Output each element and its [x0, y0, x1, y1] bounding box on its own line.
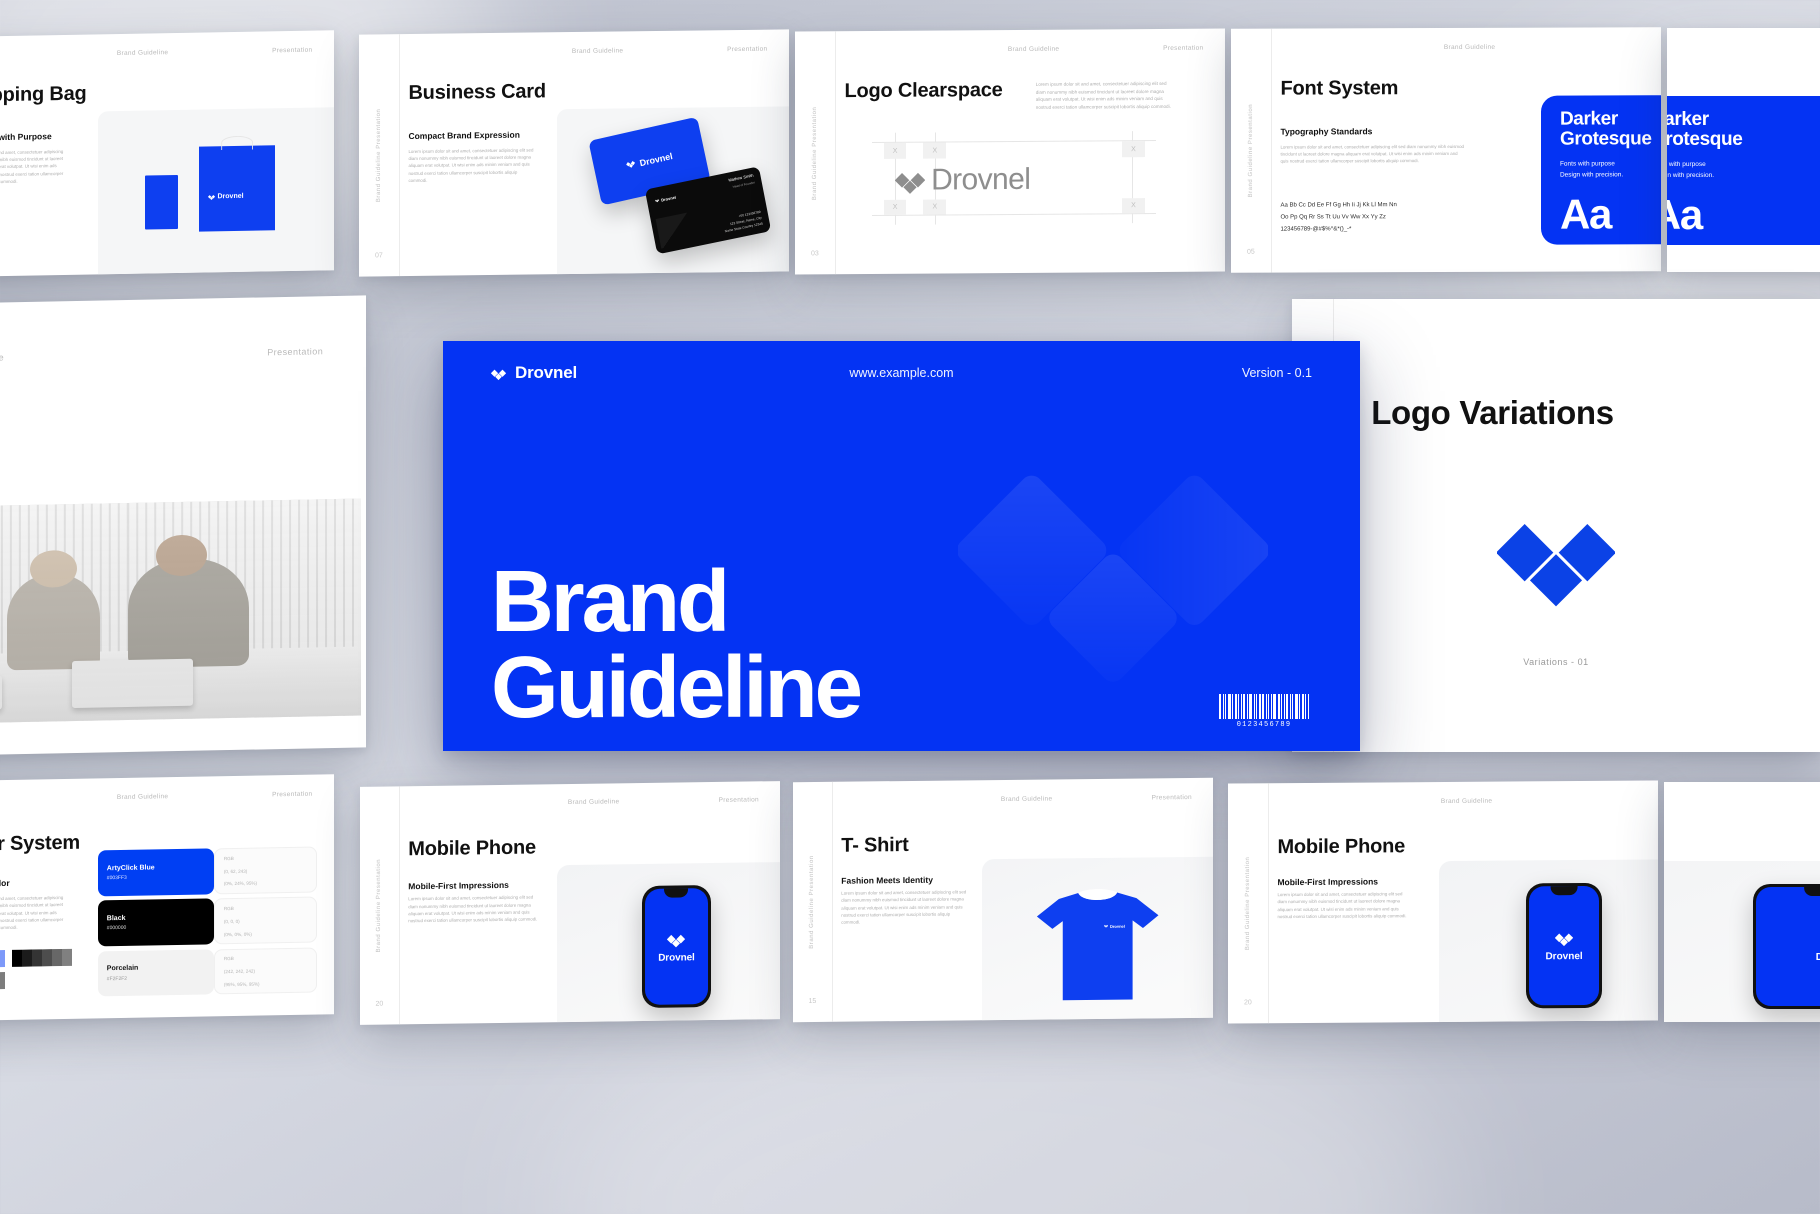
clearspace-marker: X [884, 199, 907, 215]
slide-body-copy: Lorem ipsum dolor sit and amet, consecte… [1280, 143, 1465, 165]
slide-team-photo[interactable]: Brand Guideline Presentation [0, 295, 366, 756]
swatch-row[interactable]: Black #000000 RGB (0, 0, 0) (0%, 0%, 0%) [98, 897, 317, 946]
slide-rail: Brand Guideline Presentation 15 [793, 782, 833, 1022]
swatch-hex: #003FF3 [107, 875, 127, 881]
phone-screen: Drovnel [1529, 886, 1600, 1006]
slide-header: Brand Guideline Presentation [836, 44, 1225, 54]
font-specimen-card: Darker Grotesque Fonts with purpose Desi… [1541, 95, 1661, 245]
rail-label: Brand Guideline Presentation [812, 106, 818, 200]
slide-header: Brand Guideline Presentation [833, 793, 1213, 804]
swatch-hex: #000000 [107, 925, 126, 931]
swatch-hsl-value: (0%, 24%, 95%) [224, 881, 257, 887]
phone-device: Drovnel [1753, 884, 1820, 1009]
photo-grayscale-overlay [0, 499, 361, 725]
header-left: Brand Guideline [568, 799, 620, 807]
card-back-brand: Drovnel [654, 194, 675, 203]
card-back-pattern [655, 212, 695, 248]
page-number: 07 [375, 252, 383, 259]
slide-logo-variations[interactable]: Brand Guideline Presentation 10 Logo Var… [1292, 299, 1820, 752]
swatch-hsl-value: (95%, 95%, 95%) [224, 982, 260, 988]
hero-brand: Drovnel [491, 363, 577, 383]
swatch-chip: ArtyClick Blue #003FF3 [98, 848, 214, 896]
specimen-subtitle: Fonts with purpose Design with precision… [1667, 160, 1714, 181]
slide-rail: Brand Guideline Presentation 20 [1228, 783, 1269, 1023]
phone-screen: Drovnel [1756, 887, 1820, 1006]
swatch-meta: RGB (0, 0, 0) (0%, 0%, 0%) [214, 897, 317, 944]
font-specimen-card-overflow: Darker Grotesque Fonts with purpose Desi… [1667, 96, 1820, 245]
swatch-meta: RGB (0, 62, 243) (0%, 24%, 95%) [214, 847, 317, 894]
hero-website-url[interactable]: www.example.com [849, 366, 953, 380]
specimen-aa: Aa [1560, 194, 1611, 236]
alphabet-line-1: Aa Bb Cc Dd Ee Ff Gg Hh Ii Jj Kk Ll Mm N… [1280, 199, 1396, 211]
phone-device: Drovnel [642, 885, 711, 1008]
tshirt-chest-logo: Drovnel [1104, 923, 1125, 928]
page-number: 05 [1247, 249, 1255, 256]
slide-mobile-phone-2[interactable]: Brand Guideline Presentation 20 Brand Gu… [1228, 780, 1658, 1023]
team-photo [0, 499, 361, 725]
slide-subtitle: Fashion Meets Identity [841, 874, 933, 885]
phone-brand-label: Drovnel [658, 952, 695, 964]
slide-rail: Brand Guideline Presentation 07 [359, 34, 400, 276]
hero-decoration [958, 405, 1268, 715]
swatch-chip: Porcelain #F2F2F2 [98, 949, 214, 997]
specimen-subtitle: Fonts with purpose Design with precision… [1560, 160, 1623, 181]
card-back-label: Drovnel [660, 194, 676, 202]
rail-label: Brand Guideline Presentation [1245, 857, 1251, 951]
slide-deck-mockup: Brand Guideline Presentation 06 Brand Gu… [0, 0, 1820, 1214]
swatch-name: ArtyClick Blue [107, 864, 155, 872]
bag-brand: Drovnel [208, 193, 244, 201]
slide-header: Brand Guideline Presentation [400, 45, 789, 57]
logo-mark-icon [895, 165, 925, 195]
slide-rail: Brand Guideline Presentation 05 [1231, 29, 1272, 273]
slide-font-system[interactable]: Brand Guideline Presentation 05 Brand Gu… [1231, 27, 1661, 273]
variation-caption: Variations - 01 [1523, 657, 1588, 667]
slide-hero-brand-guideline[interactable]: Drovnel www.example.com Version - 0.1 Br… [443, 341, 1360, 751]
header-left: Brand Guideline [117, 793, 169, 801]
slide-font-system-overflow[interactable]: Darker Grotesque Fonts with purpose Desi… [1667, 28, 1820, 272]
slide-mobile-phone-1[interactable]: Brand Guideline Presentation 20 Brand Gu… [360, 781, 780, 1025]
specimen-title: Darker Grotesque [1667, 110, 1742, 151]
slide-business-card[interactable]: Brand Guideline Presentation 07 Brand Gu… [359, 29, 789, 276]
swatch-rgb-label: RGB [224, 906, 234, 911]
color-ramp-black [12, 949, 72, 967]
header-left: Brand Guideline [1441, 797, 1493, 804]
slide-color-system[interactable]: Brand Guideline Presentation 04 Brand Gu… [0, 774, 334, 1022]
clearspace-marker: X [884, 143, 907, 159]
logo-mark-icon [1555, 929, 1573, 947]
font-alphabet: Aa Bb Cc Dd Ee Ff Gg Hh Ii Jj Kk Ll Mm N… [1280, 199, 1396, 235]
swatch-name: Black [107, 915, 126, 922]
clearspace-marker: X [1122, 198, 1145, 214]
hero-title: Brand Guideline [491, 559, 860, 731]
mockup-panel: Drovnel [1439, 859, 1658, 1022]
slide-rail: Brand Guideline Presentation 03 [795, 31, 836, 274]
tshirt-graphic: Drovnel [1033, 885, 1162, 1002]
hero-top-bar: Drovnel www.example.com Version - 0.1 [491, 363, 1312, 383]
slide-header: Brand Guideline Presentation [400, 797, 780, 809]
hero-version-label: Version - 0.1 [1242, 366, 1312, 380]
specimen-aa: Aa [1667, 194, 1702, 236]
swatch-rgb-label: RGB [224, 956, 234, 961]
slide-subtitle: Compact Brand Expression [408, 129, 519, 140]
alphabet-line-3: 123456789-@#$%^&*()_-* [1280, 223, 1396, 235]
slide-subtitle: Packaging with Purpose [0, 131, 52, 143]
swatch-hex: #F2F2F2 [107, 976, 127, 982]
rail-label: Brand Guideline Presentation [1248, 104, 1254, 198]
phone-notch [1805, 887, 1820, 896]
header-right: Presentation [727, 45, 767, 52]
clearspace-logo: Drovnel [895, 162, 1030, 197]
swatch-rgb-value: (242, 242, 242) [224, 969, 255, 975]
alphabet-line-2: Oo Pp Qq Rr Ss Tt Uu Vv Ww Xx Yy Zz [1280, 211, 1396, 223]
swatch-rgb-value: (0, 62, 243) [224, 868, 248, 873]
slide-title: Logo Variations [1371, 394, 1614, 432]
page-number: 15 [809, 998, 817, 1005]
hero-brand-label: Drovnel [515, 363, 577, 383]
page-number: 03 [811, 250, 819, 257]
mockup-panel: Drovnel [1664, 861, 1820, 1022]
rail-label: Brand Guideline Presentation [376, 859, 382, 953]
header-right: Presentation [1163, 44, 1203, 51]
slide-subtitle: Mobile-First Impressions [1277, 876, 1378, 887]
swatch-rgb-label: RGB [224, 856, 234, 861]
logo-mark-icon [1104, 924, 1108, 928]
shopping-bag-body: Drovnel [199, 146, 275, 232]
slide-header: Brand Guideline Presentation [1272, 43, 1661, 51]
clearspace-marker: X [1122, 141, 1145, 157]
header-right: Presentation [1152, 794, 1192, 801]
slide-header: Brand Guideline Presentation [0, 345, 366, 364]
clearspace-marker: X [923, 143, 946, 159]
page-number: 20 [376, 1001, 384, 1008]
slide-title: Color System [0, 831, 80, 856]
logo-mark-icon [208, 193, 215, 200]
slide-title: T- Shirt [841, 834, 908, 858]
clearspace-diagram: X X X X X X Drovnel [872, 131, 1156, 225]
phone-brand-label: Drovnel [1816, 952, 1820, 963]
slide-title: Business Card [408, 81, 545, 106]
swatch-name: Porcelain [107, 965, 139, 973]
slide-header: Brand Guideline Presentation [0, 46, 334, 60]
logo-mark-icon [1497, 496, 1615, 619]
mockup-panel: Drovnel [982, 857, 1213, 1020]
slide-rail: Brand Guideline Presentation 20 [360, 786, 400, 1025]
mockup-panel: Drovnel [557, 862, 780, 1022]
logo-mark-icon [491, 366, 506, 381]
logo-mark-icon [667, 930, 685, 948]
swatch-row[interactable]: ArtyClick Blue #003FF3 RGB (0, 62, 243) … [98, 847, 317, 896]
card-front-label: Drovnel [639, 151, 674, 168]
swatch-rgb-value: (0, 0, 0) [224, 919, 240, 924]
barcode-bars [1219, 694, 1309, 719]
specimen-title: Darker Grotesque [1560, 109, 1652, 150]
slide-title: Mobile Phone [1277, 835, 1405, 859]
hero-title-line-1: Brand [491, 559, 860, 645]
page-number: 20 [1244, 1000, 1252, 1007]
slide-header: Brand Guideline Presentation [0, 790, 334, 804]
swatch-row[interactable]: Porcelain #F2F2F2 RGB (242, 242, 242) (9… [98, 947, 317, 996]
logo-mark-icon [626, 159, 637, 172]
header-right: Presentation [267, 346, 323, 357]
mockup-panel: Drovnel Drovnel Mathew Smith Head of Fou… [557, 107, 789, 274]
slide-logo-clearspace[interactable]: Brand Guideline Presentation 03 Brand Gu… [795, 28, 1225, 274]
header-left: Brand Guideline [572, 47, 624, 55]
mockup-panel: Drovnel [98, 107, 335, 274]
slide-body-copy: Lorem ipsum dolor sit and amet, consecte… [408, 146, 537, 184]
slide-body-copy: Lorem ipsum dolor sit and amet, consecte… [0, 894, 70, 932]
header-right: Presentation [272, 790, 312, 798]
phone-device: Drovnel [1526, 883, 1603, 1009]
rail-label: Brand Guideline Presentation [809, 855, 815, 949]
slide-body-copy: Lorem ipsum dolor sit and amet, consecte… [408, 894, 538, 925]
slide-title: Shopping Bag [0, 83, 87, 108]
phone-notch [1551, 886, 1578, 895]
swatch-hsl-value: (0%, 0%, 0%) [224, 931, 252, 936]
bag-brand-label: Drovnel [218, 193, 244, 200]
header-left: Brand Guideline [1001, 795, 1053, 803]
slide-subtitle: Primary Color [0, 878, 10, 889]
phone-brand-label: Drovnel [1545, 951, 1582, 962]
clearspace-wordmark: Drovnel [931, 162, 1030, 197]
slide-subtitle: Mobile-First Impressions [408, 880, 509, 891]
bag-handle [221, 136, 253, 150]
slide-header: Brand Guideline Presentation [1269, 796, 1658, 806]
rail-label: Brand Guideline Presentation [376, 109, 382, 203]
slide-shopping-bag[interactable]: Brand Guideline Presentation 06 Brand Gu… [0, 30, 334, 278]
slide-title: Logo Clearspace [844, 79, 1002, 103]
slide-title: Font System [1280, 77, 1398, 100]
slide-mobile-phone-3[interactable]: Drovnel [1664, 782, 1820, 1022]
slide-tshirt[interactable]: Brand Guideline Presentation 15 Brand Gu… [793, 778, 1213, 1022]
swatch-chip: Black #000000 [98, 899, 214, 947]
slide-body-copy: Lorem ipsum dolor sit and amet, consecte… [0, 148, 70, 186]
color-ramp-gray [0, 972, 5, 990]
barcode-number: 0123456789 [1237, 721, 1292, 729]
bag-tag [145, 175, 178, 229]
swatch-meta: RGB (242, 242, 242) (95%, 95%, 95%) [214, 947, 317, 994]
color-ramp-blue [0, 950, 5, 968]
header-left: Brand Guideline [117, 49, 169, 57]
clearspace-marker: X [923, 199, 946, 215]
phone-notch [665, 888, 689, 897]
hero-title-line-2: Guideline [491, 645, 860, 731]
tshirt-chest-label: Drovnel [1110, 923, 1125, 928]
slide-body-copy: Lorem ipsum dolor sit and amet, consecte… [1036, 80, 1178, 111]
header-left: Brand Guideline [1008, 45, 1060, 52]
header-right: Presentation [719, 797, 759, 805]
slide-title: Mobile Phone [408, 837, 536, 862]
header-left: Brand Guideline [1444, 44, 1496, 51]
barcode: 0123456789 [1218, 691, 1310, 729]
phone-screen: Drovnel [645, 888, 708, 1005]
slide-subtitle: Typography Standards [1280, 126, 1372, 136]
slide-body-copy: Lorem ipsum dolor sit and amet, consecte… [841, 888, 967, 926]
header-right: Presentation [272, 46, 312, 54]
header-left: Brand Guideline [0, 352, 4, 363]
slide-body-copy: Lorem ipsum dolor sit and amet, consecte… [1277, 890, 1410, 920]
